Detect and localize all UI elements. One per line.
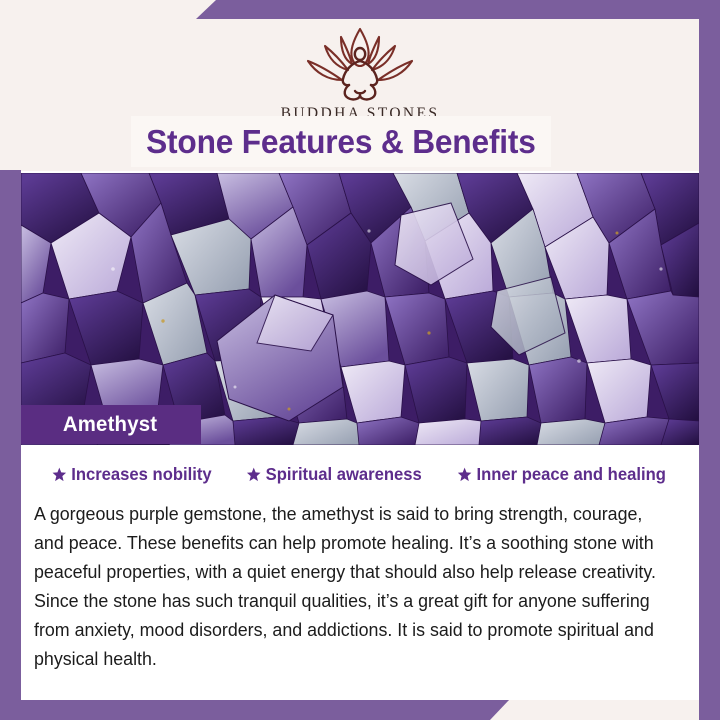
- star-icon: [458, 467, 472, 482]
- brand-logo: BUDDHA STONES: [21, 25, 699, 123]
- benefit-item: Increases nobility: [52, 464, 211, 485]
- benefits-list: Increases nobility Spiritual awareness I…: [21, 445, 699, 485]
- frame-left-bar: [0, 170, 21, 720]
- benefit-label: Inner peace and healing: [477, 464, 666, 485]
- stone-features-infographic: BUDDHA STONES Stone Features & Benefits: [0, 0, 720, 720]
- benefit-label: Increases nobility: [71, 464, 211, 485]
- star-icon: [247, 467, 261, 482]
- benefit-item: Spiritual awareness: [247, 464, 422, 485]
- stone-name-banner: Amethyst: [21, 405, 201, 444]
- page-title-text: Stone Features & Benefits: [146, 123, 536, 161]
- lotus-meditation-icon: [294, 25, 426, 103]
- benefit-item: Inner peace and healing: [458, 464, 666, 485]
- frame-top-bar: [0, 0, 720, 19]
- frame-right-bar: [699, 0, 720, 720]
- stone-name-label: Amethyst: [23, 413, 157, 437]
- stone-description: A gorgeous purple gemstone, the amethyst…: [34, 499, 671, 673]
- star-icon: [52, 467, 66, 482]
- benefit-label: Spiritual awareness: [266, 464, 422, 485]
- stone-content: Increases nobility Spiritual awareness I…: [21, 445, 699, 700]
- page-title: Stone Features & Benefits: [131, 116, 551, 167]
- frame-bottom-bar: [0, 699, 720, 720]
